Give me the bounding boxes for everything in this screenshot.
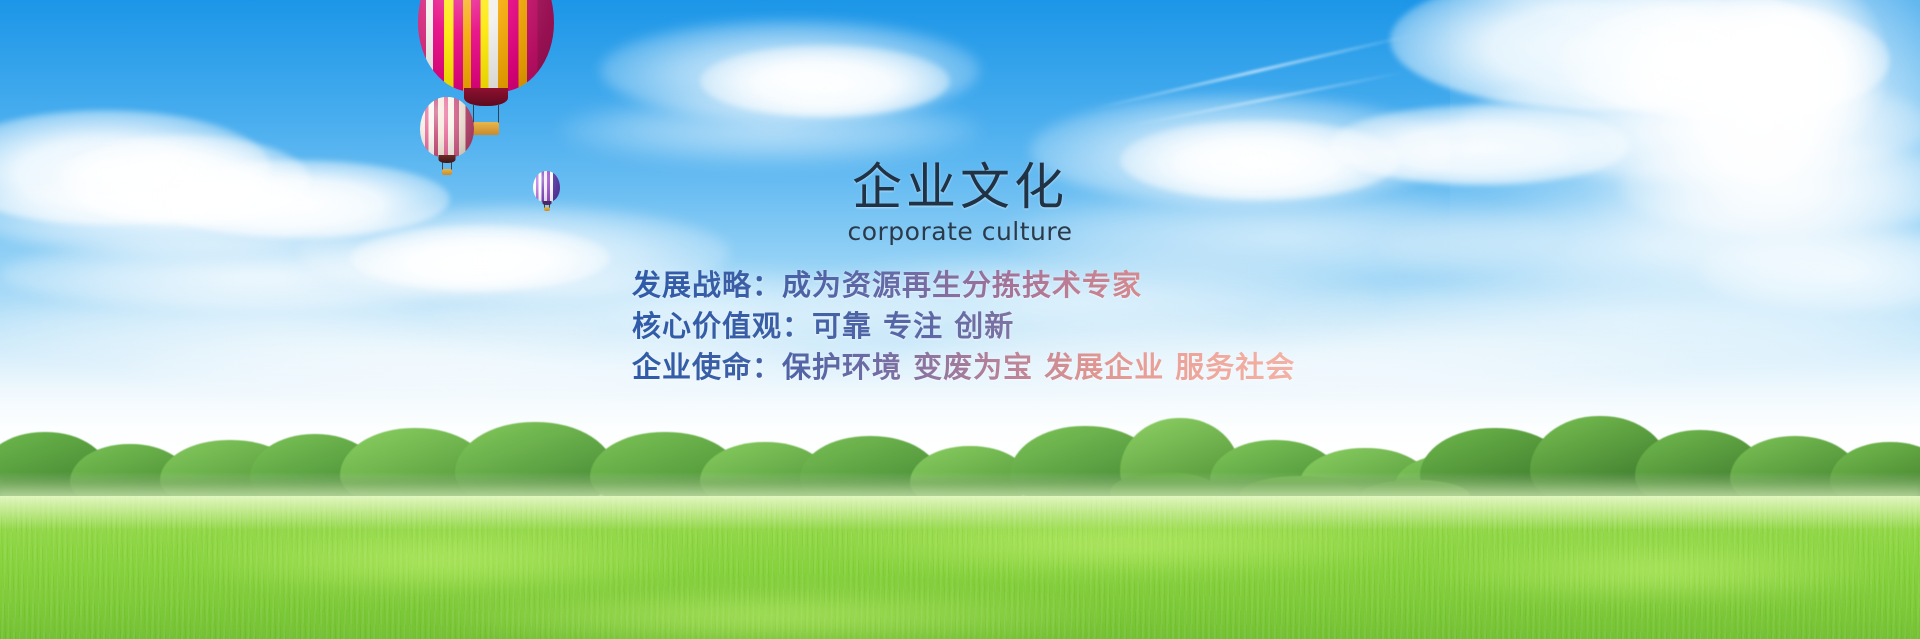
grass-highlight	[1420, 538, 1900, 604]
hot-air-balloon-medium	[420, 97, 474, 175]
treeline	[0, 396, 1920, 506]
grass-field	[0, 496, 1920, 639]
balloon-envelope	[533, 171, 560, 202]
corporate-culture-banner: 企业文化 corporate culture 发展战略：成为资源再生分拣技术专家…	[0, 0, 1920, 639]
balloon-envelope	[420, 97, 474, 157]
grass-highlight	[180, 526, 700, 596]
sun-icon	[1700, 0, 1890, 160]
hot-air-balloon-small	[533, 171, 560, 211]
cloud-shape	[120, 330, 820, 400]
cloud-shape	[900, 320, 1700, 396]
cloud-shape	[1330, 105, 1630, 185]
balloon-basket	[442, 169, 452, 175]
grass-highlight	[420, 588, 1120, 639]
balloon-envelope	[418, 0, 554, 92]
balloon-basket	[544, 207, 550, 211]
cloud-shape	[560, 95, 980, 165]
grass-highlight	[820, 514, 1420, 576]
balloon-basket	[473, 122, 499, 135]
